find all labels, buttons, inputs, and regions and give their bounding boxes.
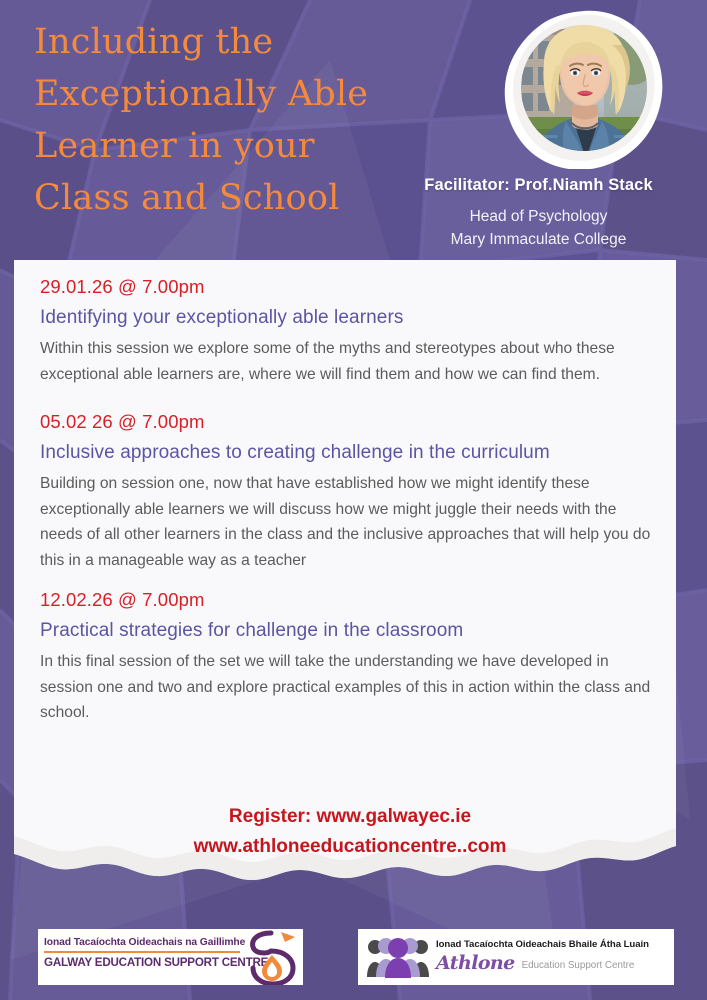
facilitator-role: Head of Psychology: [370, 205, 707, 228]
session-item-1: 29.01.26 @ 7.00pm Identifying your excep…: [40, 274, 660, 387]
session-date: 12.02.26 @ 7.00pm: [40, 587, 660, 613]
session-title: Identifying your exceptionally able lear…: [40, 302, 660, 333]
facilitator-institution: Mary Immaculate College: [370, 228, 707, 251]
facilitator-portrait: [504, 9, 664, 169]
register-line-galway[interactable]: Register: www.galwayec.ie: [40, 802, 660, 832]
galway-logo-irish: Ionad Tacaíochta Oideachais na Gaillimhe: [44, 936, 244, 950]
poster-header: Including the Exceptionally Able Learner…: [0, 0, 707, 262]
page-title: Including the Exceptionally Able Learner…: [34, 16, 414, 224]
title-line-2: Exceptionally Able: [34, 68, 414, 120]
session-title: Inclusive approaches to creating challen…: [40, 437, 660, 468]
session-description: Within this session we explore some of t…: [40, 336, 660, 387]
spacer: [40, 573, 660, 587]
spacer: [40, 387, 660, 409]
card-content: 29.01.26 @ 7.00pm Identifying your excep…: [14, 260, 676, 870]
session-date: 29.01.26 @ 7.00pm: [40, 274, 660, 300]
galway-logo-rule: [44, 951, 240, 953]
galway-logo-text: Ionad Tacaíochta Oideachais na Gaillimhe…: [44, 936, 244, 970]
athlone-education-support-centre-logo: Ionad Tacaíochta Oideachais Bhaile Átha …: [358, 929, 674, 985]
register-line-athlone[interactable]: www.athloneeducationcentre..com: [40, 832, 660, 862]
galway-logo-english: GALWAY EDUCATION SUPPORT CENTRE: [44, 955, 244, 970]
session-description: Building on session one, now that have e…: [40, 471, 660, 573]
session-date: 05.02 26 @ 7.00pm: [40, 409, 660, 435]
session-description: In this final session of the set we will…: [40, 649, 660, 726]
title-line-3: Learner in your: [34, 120, 414, 172]
athlone-logo-english: Education Support Centre: [522, 954, 635, 972]
title-line-4: Class and School: [34, 172, 414, 224]
session-item-3: 12.02.26 @ 7.00pm Practical strategies f…: [40, 587, 660, 726]
athlone-logo-wordmark-row: Athlone Education Support Centre: [436, 952, 668, 974]
facilitator-affiliation: Head of Psychology Mary Immaculate Colle…: [370, 205, 707, 251]
galway-education-support-centre-logo: Ionad Tacaíochta Oideachais na Gaillimhe…: [38, 929, 303, 985]
register-block: Register: www.galwayec.ie www.athloneedu…: [40, 802, 660, 862]
session-item-2: 05.02 26 @ 7.00pm Inclusive approaches t…: [40, 409, 660, 573]
content-card: 29.01.26 @ 7.00pm Identifying your excep…: [14, 260, 676, 885]
facilitator-name: Facilitator: Prof.Niamh Stack: [370, 176, 707, 195]
poster-root: Including the Exceptionally Able Learner…: [0, 0, 707, 1000]
galway-flame-logo-icon: [241, 929, 301, 985]
session-list: 29.01.26 @ 7.00pm Identifying your excep…: [40, 274, 660, 726]
session-title: Practical strategies for challenge in th…: [40, 615, 660, 646]
athlone-wordmark: Athlone: [436, 952, 515, 974]
athlone-logo-irish: Ionad Tacaíochta Oideachais Bhaile Átha …: [436, 938, 668, 951]
title-line-1: Including the: [34, 16, 414, 68]
athlone-logo-text: Ionad Tacaíochta Oideachais Bhaile Átha …: [436, 938, 668, 974]
athlone-people-logo-icon: [366, 935, 430, 979]
